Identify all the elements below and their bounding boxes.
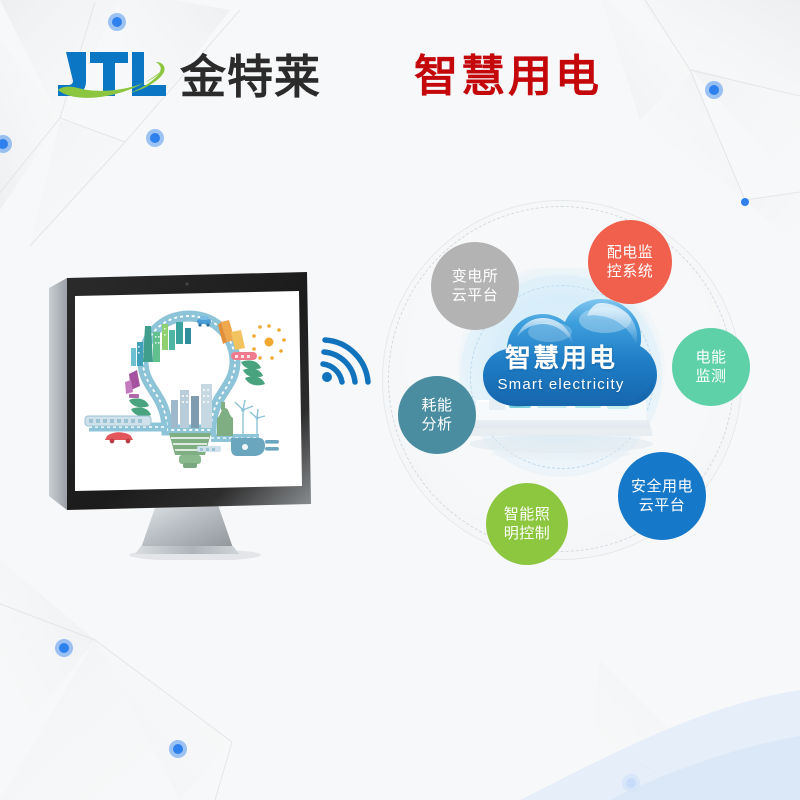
node-safe-power-cloud[interactable]: 安全用电 云平台 [618, 452, 706, 540]
node-label-line-1: 变电所 [452, 267, 499, 286]
brand-wordmark: 金特莱 [180, 48, 321, 106]
jtl-logo-icon [56, 46, 178, 108]
poster-header: 金特莱 智慧用电 [0, 0, 800, 150]
node-smart-lighting[interactable]: 智能照 明控制 [486, 483, 568, 565]
smart-electricity-radial-diagram: 智慧用电 Smart electricity 变电所 云平台 配电监 控系统 电… [360, 180, 760, 580]
node-label-line-1: 安全用电 [631, 477, 693, 496]
poster-canvas: 金特莱 智慧用电 [0, 0, 800, 800]
node-distribution-monitoring[interactable]: 配电监 控系统 [588, 220, 672, 304]
node-label-line-1: 智能照 [504, 505, 551, 524]
node-label-line-2: 控系统 [607, 262, 654, 281]
node-label-line-2: 监测 [695, 367, 726, 386]
node-label-line-2: 云平台 [452, 286, 499, 305]
node-power-metering[interactable]: 电能 监测 [672, 328, 750, 406]
node-substation-cloud[interactable]: 变电所 云平台 [431, 242, 519, 330]
node-label-line-1: 配电监 [607, 243, 654, 262]
poster-headline: 智慧用电 [414, 48, 602, 106]
node-energy-analysis[interactable]: 耗能 分析 [398, 376, 476, 454]
desktop-monitor [45, 270, 335, 560]
node-label-line-1: 电能 [695, 348, 726, 367]
node-label-line-2: 云平台 [639, 496, 686, 515]
tablet-device [469, 400, 653, 460]
node-label-line-1: 耗能 [421, 396, 452, 415]
node-label-line-2: 明控制 [504, 524, 551, 543]
node-label-line-2: 分析 [421, 415, 452, 434]
